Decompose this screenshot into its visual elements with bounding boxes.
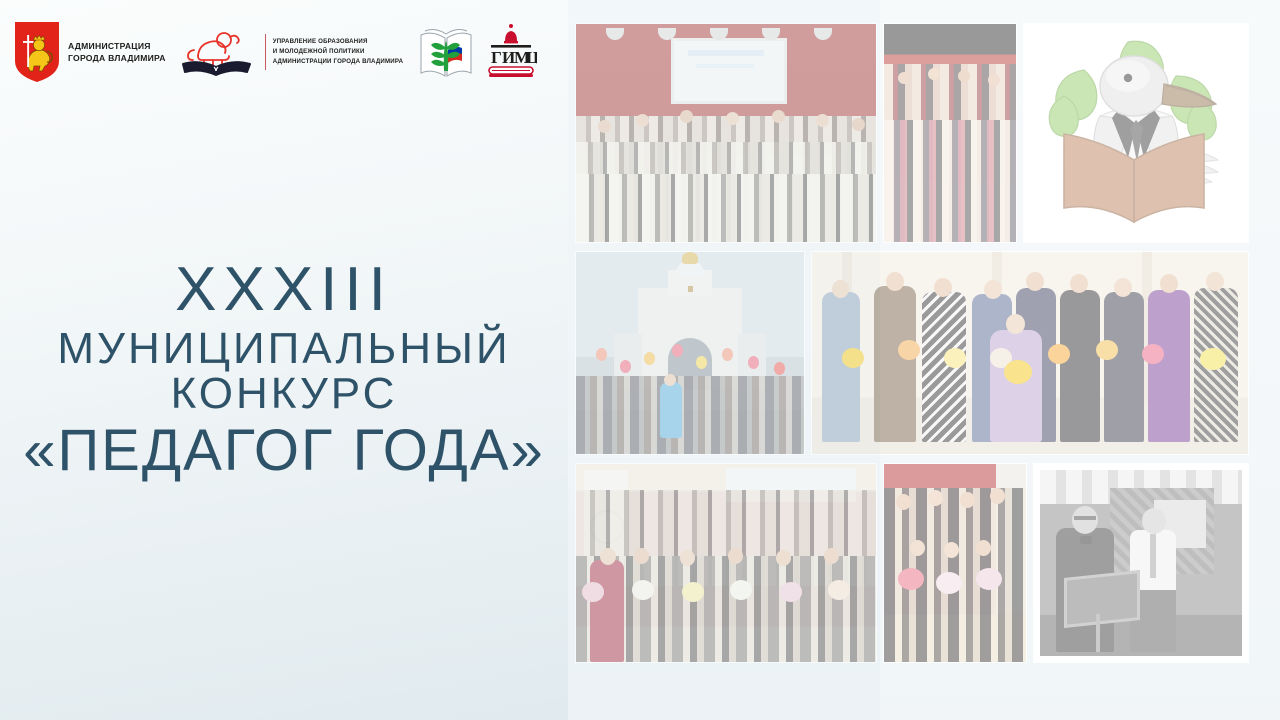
golden-gates-balloons-photo [576,252,804,454]
collage-row-2 [576,252,1248,454]
logo-vladimir-administration-text: АДМИНИСТРАЦИЯ ГОРОДА ВЛАДИМИРА [68,40,166,65]
logo2-text-line-1: УПРАВЛЕНИЕ ОБРАЗОВАНИЯ [273,37,403,47]
logo-bar: АДМИНИСТРАЦИЯ ГОРОДА ВЛАДИМИРА [0,0,568,104]
photo-collage [576,24,1248,686]
winners-red-room-photo [884,464,1026,662]
svg-text:Ц: Ц [526,48,537,67]
logo2-text-line-2: И МОЛОДЕЖНОЙ ПОЛИТИКИ [273,47,403,57]
title-line-contest: КОНКУРС [0,372,568,417]
logo-divider-rule [265,34,266,70]
laureates-with-bouquets-hall [812,252,1248,454]
archive-black-white-stage-photo [1034,464,1248,662]
svg-text:Г: Г [491,48,502,67]
group-photo-red-wall-participants [884,24,1016,242]
finalists-group-red-curtain [576,464,876,662]
logo-education-department-text: УПРАВЛЕНИЕ ОБРАЗОВАНИЯ И МОЛОДЕЖНОЙ ПОЛИ… [273,37,403,67]
stork-mascot-icon [1024,24,1248,242]
vladimir-coat-of-arms-icon [14,21,60,83]
presentation-slide: АДМИНИСТРАЦИЯ ГОРОДА ВЛАДИМИРА [0,0,1280,720]
logo-text-line-1: АДМИНИСТРАЦИЯ [68,40,166,52]
collage-row-1 [576,24,1248,242]
lion-over-book-icon [178,26,256,78]
logo-profsoyuz-book-emblem [417,21,475,83]
logo-text-line-2: ГОРОДА ВЛАДИМИРА [68,52,166,64]
title-line-name: «ПЕДАГОГ ГОДА» [0,421,568,480]
logo-gimc-emblem: Г И М Ц [485,23,537,81]
title-roman-numeral: XXXIII [0,258,568,321]
slide-title: XXXIII МУНИЦИПАЛЬНЫЙ КОНКУРС «ПЕДАГОГ ГО… [0,258,568,480]
group-photo-red-hall-large [576,24,876,242]
logo-education-department: УПРАВЛЕНИЕ ОБРАЗОВАНИЯ И МОЛОДЕЖНОЙ ПОЛИ… [178,26,403,78]
collage-row-3 [576,464,1248,662]
title-line-municipal: МУНИЦИПАЛЬНЫЙ [0,327,568,372]
logo-vladimir-administration: АДМИНИСТРАЦИЯ ГОРОДА ВЛАДИМИРА [14,21,166,83]
logo2-text-line-3: АДМИНИСТРАЦИИ ГОРОДА ВЛАДИМИРА [273,57,403,67]
stork-reading-book-mascot [1024,24,1248,242]
